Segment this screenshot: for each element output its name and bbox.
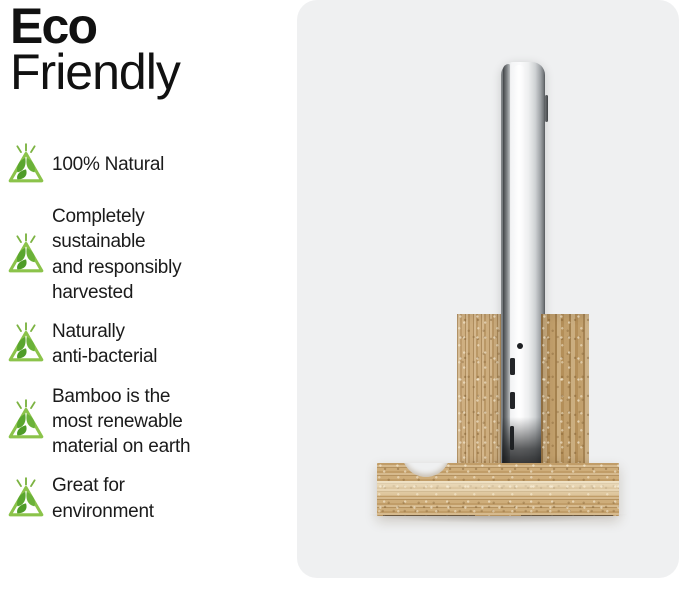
list-item: Completely sustainable and responsibly h… bbox=[0, 204, 290, 305]
list-item: Naturally anti-bacterial bbox=[0, 319, 290, 370]
speaker-slot-1 bbox=[510, 358, 515, 375]
wood-grain-speckle bbox=[457, 314, 505, 466]
page-title: Eco Friendly bbox=[10, 2, 285, 97]
feature-column: Eco Friendly 100% Natural bbox=[0, 0, 290, 608]
stand-foot-right bbox=[521, 515, 613, 516]
feature-list: 100% Natural Completely sustainable and … bbox=[0, 140, 290, 538]
feature-label: Bamboo is the most renewable material on… bbox=[52, 384, 290, 460]
product-photo bbox=[297, 0, 679, 578]
feature-label: Naturally anti-bacterial bbox=[52, 319, 290, 370]
feature-label: 100% Natural bbox=[52, 152, 290, 177]
recycle-leaf-icon bbox=[0, 319, 52, 369]
base-highlight-stripe bbox=[377, 481, 619, 496]
feature-label: Great for environment bbox=[52, 473, 290, 524]
smartphone-side-profile bbox=[501, 62, 545, 475]
stand-upright-back bbox=[457, 314, 505, 466]
recycle-leaf-icon bbox=[0, 474, 52, 524]
stand-foot-left bbox=[383, 515, 475, 516]
list-item: 100% Natural bbox=[0, 140, 290, 190]
product-image-panel bbox=[297, 0, 679, 578]
power-button bbox=[545, 95, 548, 122]
list-item: Bamboo is the most renewable material on… bbox=[0, 384, 290, 460]
speaker-slot-2 bbox=[510, 392, 515, 409]
list-item: Great for environment bbox=[0, 473, 290, 524]
headline-line-friendly: Friendly bbox=[10, 48, 285, 97]
recycle-leaf-icon bbox=[0, 396, 52, 446]
microphone-hole bbox=[517, 343, 523, 349]
recycle-leaf-icon bbox=[0, 140, 52, 190]
stand-base bbox=[377, 463, 619, 516]
feature-label: Completely sustainable and responsibly h… bbox=[52, 204, 290, 305]
wood-grain-speckle bbox=[541, 314, 589, 466]
phone-specular-highlight bbox=[513, 65, 525, 472]
recycle-leaf-icon bbox=[0, 230, 52, 280]
phone-screen-edge bbox=[503, 64, 510, 473]
stand-upright-front bbox=[541, 314, 589, 466]
